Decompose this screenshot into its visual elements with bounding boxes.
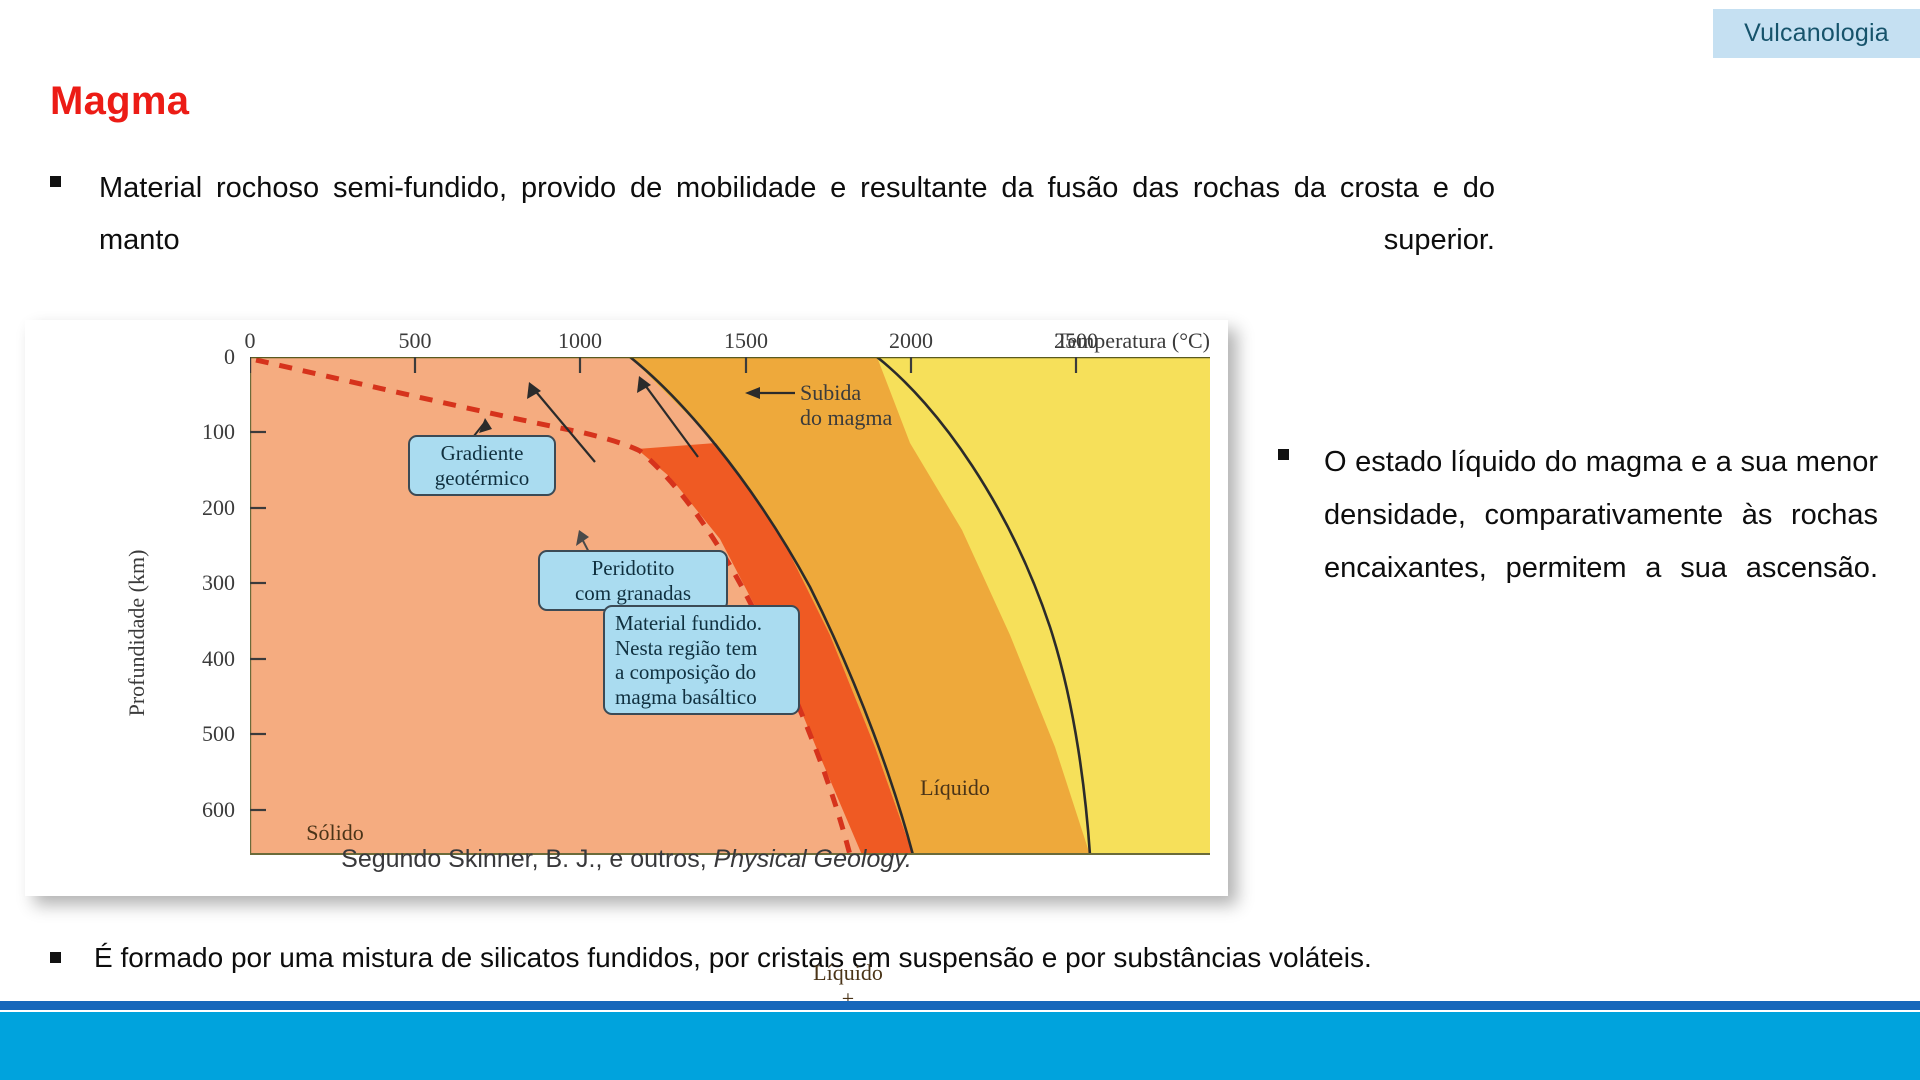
- chart-y-tick-100: 100: [175, 419, 235, 445]
- annotation-subida-do-magma: Subida do magma: [800, 380, 892, 431]
- chart-x-tick-0: 0: [245, 328, 256, 354]
- chart-y-axis-title: Profundidade (km): [124, 550, 150, 717]
- figure-caption-prefix: Segundo Skinner, B. J., e outros,: [341, 845, 713, 873]
- bullet-item-2: O estado líquido do magma e a sua menor …: [1278, 436, 1878, 647]
- bullet-square-icon: [50, 176, 61, 187]
- chart-y-tick-500: 500: [175, 721, 235, 747]
- bullet-square-icon: [50, 952, 61, 963]
- chart-y-tick-300: 300: [175, 570, 235, 596]
- chart-x-tick-2000: 2000: [889, 328, 933, 354]
- chart-x-tick-500: 500: [399, 328, 432, 354]
- chart-x-tick-1500: 1500: [724, 328, 768, 354]
- bullet-square-icon: [1278, 449, 1289, 460]
- callout-material-fundido: Material fundido. Nesta região tem a com…: [603, 605, 800, 715]
- chart-y-tick-600: 600: [175, 797, 235, 823]
- header-topic-badge: Vulcanologia: [1713, 9, 1920, 58]
- figure-card: Temperatura (°C) Profundidade (km) 0 500…: [25, 320, 1228, 896]
- page-title: Magma: [50, 79, 189, 124]
- bullet-text-1: Material rochoso semi-fundido, provido d…: [99, 163, 1495, 318]
- bullet-item-1: Material rochoso semi-fundido, provido d…: [50, 163, 1495, 318]
- bullet-text-3: É formado por uma mistura de silicatos f…: [94, 940, 1372, 976]
- callout-gradiente-geotermico: Gradiente geotérmico: [408, 435, 556, 496]
- region-label-liquido: Líquido: [890, 775, 1020, 801]
- chart-y-tick-0: 0: [175, 344, 235, 370]
- figure-caption: Segundo Skinner, B. J., e outros, Physic…: [25, 845, 1228, 874]
- chart-x-tick-2500: 2500: [1054, 328, 1098, 354]
- figure-caption-source-title: Physical Geology.: [714, 845, 912, 873]
- figure-diagram: Temperatura (°C) Profundidade (km) 0 500…: [25, 320, 1228, 896]
- footer-bar: [0, 1012, 1920, 1080]
- chart-x-tick-1000: 1000: [558, 328, 602, 354]
- footer-accent-stripe: [0, 1001, 1920, 1010]
- header-topic-label: Vulcanologia: [1744, 19, 1889, 48]
- region-label-solido: Sólido: [280, 820, 390, 846]
- chart-y-tick-400: 400: [175, 646, 235, 672]
- slide-canvas: Vulcanologia Magma Material rochoso semi…: [0, 0, 1920, 1080]
- chart-y-tick-200: 200: [175, 495, 235, 521]
- bullet-text-2: O estado líquido do magma e a sua menor …: [1324, 436, 1878, 647]
- callout-peridotito-com-granadas: Peridotito com granadas: [538, 550, 728, 611]
